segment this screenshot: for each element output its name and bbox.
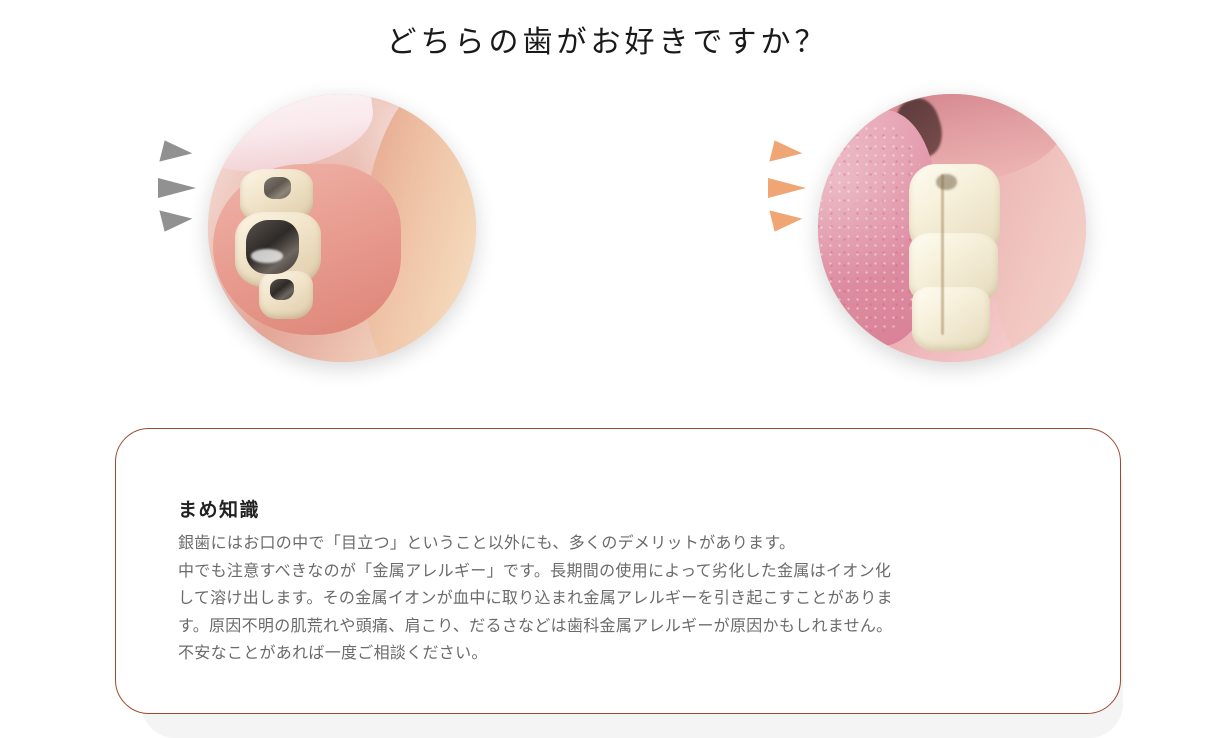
trivia-heading: まめ知識 [178, 497, 260, 523]
trivia-line: 不安なことがあれば一度ご相談ください。 [178, 639, 1078, 667]
trivia-line: して溶け出します。その金属イオンが血中に取り込まれ金属アレルギーを引き起こすこと… [178, 584, 1078, 612]
trivia-line: 中でも注意すべきなのが「金属アレルギー」です。長期間の使用によって劣化した金属は… [178, 557, 1078, 585]
page-title: どちらの歯がお好きですか？ [0, 20, 1215, 66]
amalgam-filling-shape [270, 279, 294, 300]
tooth-shape [912, 287, 990, 351]
trivia-line: 銀歯にはお口の中で「目立つ」ということ以外にも、多くのデメリットがあります。 [178, 529, 1078, 557]
tooth-groove-shape [941, 174, 944, 335]
amalgam-filling-shape [246, 220, 300, 274]
trivia-section: まめ知識 銀歯にはお口の中で「目立つ」ということ以外にも、多くのデメリットがあり… [115, 428, 1123, 738]
amalgam-filling-shape [264, 177, 291, 198]
burst-arrow-icon-left [158, 140, 206, 236]
highlight-shape [251, 249, 283, 262]
trivia-line: す。原因不明の肌荒れや頭痛、肩こり、だるさなどは歯科金属アレルギーが原因かもしれ… [178, 612, 1078, 640]
trivia-body: 銀歯にはお口の中で「目立つ」ということ以外にも、多くのデメリットがあります。 中… [178, 529, 1078, 667]
burst-arrow-icon-right [768, 140, 816, 236]
comparison-item-white [760, 78, 1180, 378]
photo-white-tooth [818, 94, 1086, 362]
photo-silver-tooth [208, 94, 476, 362]
comparison-row [0, 78, 1215, 378]
comparison-item-silver [150, 78, 570, 378]
trivia-box: まめ知識 銀歯にはお口の中で「目立つ」ということ以外にも、多くのデメリットがあり… [115, 428, 1121, 714]
